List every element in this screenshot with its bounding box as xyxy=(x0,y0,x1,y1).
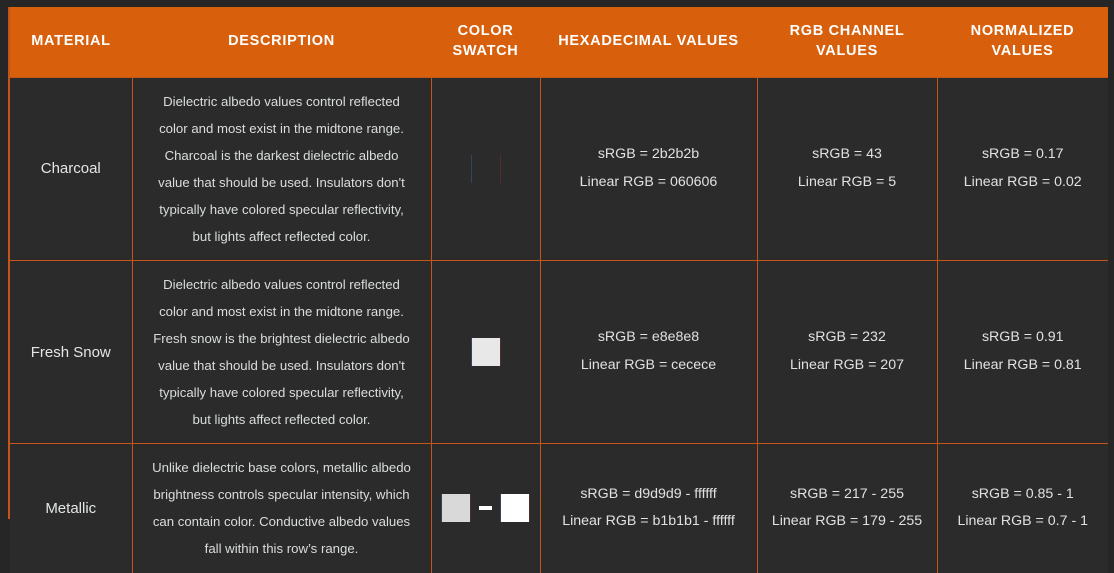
swatch-group xyxy=(438,155,534,183)
column-header-description: DESCRIPTION xyxy=(132,7,431,77)
table-body: Charcoal Dielectric albedo values contro… xyxy=(10,77,1108,573)
color-swatch xyxy=(472,155,500,183)
column-header-material: MATERIAL xyxy=(10,7,132,77)
color-swatch-range-end xyxy=(501,494,529,522)
hex-linear-rgb-value: Linear RGB = b1b1b1 - ffffff xyxy=(547,508,751,536)
column-header-description-label: DESCRIPTION xyxy=(228,33,335,49)
cell-material: Metallic xyxy=(10,444,132,573)
table-row: Fresh Snow Dielectric albedo values cont… xyxy=(10,260,1108,443)
cell-normalized-values: sRGB = 0.17 Linear RGB = 0.02 xyxy=(937,77,1108,260)
normalized-srgb-value: sRGB = 0.85 - 1 xyxy=(944,481,1103,509)
cell-color-swatch xyxy=(431,260,540,443)
normalized-linear-rgb-value: Linear RGB = 0.7 - 1 xyxy=(944,508,1103,536)
rgb-srgb-value: sRGB = 43 xyxy=(764,141,931,169)
header-row: MATERIAL DESCRIPTION COLOR SWATCH HEXADE… xyxy=(10,7,1108,77)
description-text: Dielectric albedo values control reflect… xyxy=(158,94,405,244)
normalized-srgb-value: sRGB = 0.17 xyxy=(944,141,1103,169)
rgb-linear-rgb-value: Linear RGB = 207 xyxy=(764,352,931,380)
column-header-rgb-channel-values: RGB CHANNEL VALUES xyxy=(757,7,937,77)
swatch-group xyxy=(438,338,534,366)
cell-rgb-channel-values: sRGB = 43 Linear RGB = 5 xyxy=(757,77,937,260)
rgb-linear-rgb-value: Linear RGB = 5 xyxy=(764,169,931,197)
cell-hexadecimal-values: sRGB = d9d9d9 - ffffff Linear RGB = b1b1… xyxy=(540,444,757,573)
column-header-normalized-values-line1: NORMALIZED xyxy=(971,23,1075,39)
normalized-srgb-value: sRGB = 0.91 xyxy=(944,324,1103,352)
cell-color-swatch xyxy=(431,444,540,573)
table-container: MATERIAL DESCRIPTION COLOR SWATCH HEXADE… xyxy=(8,7,1106,519)
cell-hexadecimal-values: sRGB = e8e8e8 Linear RGB = cecece xyxy=(540,260,757,443)
hex-linear-rgb-value: Linear RGB = 060606 xyxy=(547,169,751,197)
column-header-color-swatch: COLOR SWATCH xyxy=(431,7,540,77)
cell-material: Fresh Snow xyxy=(10,260,132,443)
material-name: Charcoal xyxy=(41,160,101,177)
description-text: Unlike dielectric base colors, metallic … xyxy=(152,460,411,556)
hex-linear-rgb-value: Linear RGB = cecece xyxy=(547,352,751,380)
cell-normalized-values: sRGB = 0.85 - 1 Linear RGB = 0.7 - 1 xyxy=(937,444,1108,573)
cell-description: Unlike dielectric base colors, metallic … xyxy=(132,444,431,573)
range-dash-icon xyxy=(479,506,492,510)
rgb-linear-rgb-value: Linear RGB = 179 - 255 xyxy=(764,508,931,536)
material-name: Fresh Snow xyxy=(31,344,111,361)
cell-description: Dielectric albedo values control reflect… xyxy=(132,77,431,260)
column-header-hexadecimal-values-label: HEXADECIMAL VALUES xyxy=(558,33,738,49)
cell-color-swatch xyxy=(431,77,540,260)
normalized-linear-rgb-value: Linear RGB = 0.81 xyxy=(944,352,1103,380)
table-row: Charcoal Dielectric albedo values contro… xyxy=(10,77,1108,260)
cell-description: Dielectric albedo values control reflect… xyxy=(132,260,431,443)
column-header-normalized-values-line2: VALUES xyxy=(992,43,1054,59)
column-header-color-swatch-line1: COLOR xyxy=(458,23,514,39)
column-header-rgb-channel-values-line1: RGB CHANNEL xyxy=(790,23,905,39)
column-header-material-label: MATERIAL xyxy=(31,33,110,49)
hex-srgb-value: sRGB = e8e8e8 xyxy=(547,324,751,352)
cell-rgb-channel-values: sRGB = 232 Linear RGB = 207 xyxy=(757,260,937,443)
normalized-linear-rgb-value: Linear RGB = 0.02 xyxy=(944,169,1103,197)
cell-material: Charcoal xyxy=(10,77,132,260)
material-albedo-reference-table: MATERIAL DESCRIPTION COLOR SWATCH HEXADE… xyxy=(0,0,1114,531)
rgb-srgb-value: sRGB = 217 - 255 xyxy=(764,481,931,509)
table-row: Metallic Unlike dielectric base colors, … xyxy=(10,444,1108,573)
column-header-rgb-channel-values-line2: VALUES xyxy=(816,43,878,59)
material-name: Metallic xyxy=(45,500,96,517)
albedo-values-table: MATERIAL DESCRIPTION COLOR SWATCH HEXADE… xyxy=(10,7,1108,573)
hex-srgb-value: sRGB = d9d9d9 - ffffff xyxy=(547,481,751,509)
cell-normalized-values: sRGB = 0.91 Linear RGB = 0.81 xyxy=(937,260,1108,443)
hex-srgb-value: sRGB = 2b2b2b xyxy=(547,141,751,169)
cell-hexadecimal-values: sRGB = 2b2b2b Linear RGB = 060606 xyxy=(540,77,757,260)
column-header-normalized-values: NORMALIZED VALUES xyxy=(937,7,1108,77)
swatch-group xyxy=(438,494,534,522)
color-swatch xyxy=(472,338,500,366)
column-header-hexadecimal-values: HEXADECIMAL VALUES xyxy=(540,7,757,77)
description-text: Dielectric albedo values control reflect… xyxy=(153,277,410,427)
column-header-color-swatch-line2: SWATCH xyxy=(453,43,519,59)
table-header: MATERIAL DESCRIPTION COLOR SWATCH HEXADE… xyxy=(10,7,1108,77)
rgb-srgb-value: sRGB = 232 xyxy=(764,324,931,352)
cell-rgb-channel-values: sRGB = 217 - 255 Linear RGB = 179 - 255 xyxy=(757,444,937,573)
color-swatch-range-start xyxy=(442,494,470,522)
